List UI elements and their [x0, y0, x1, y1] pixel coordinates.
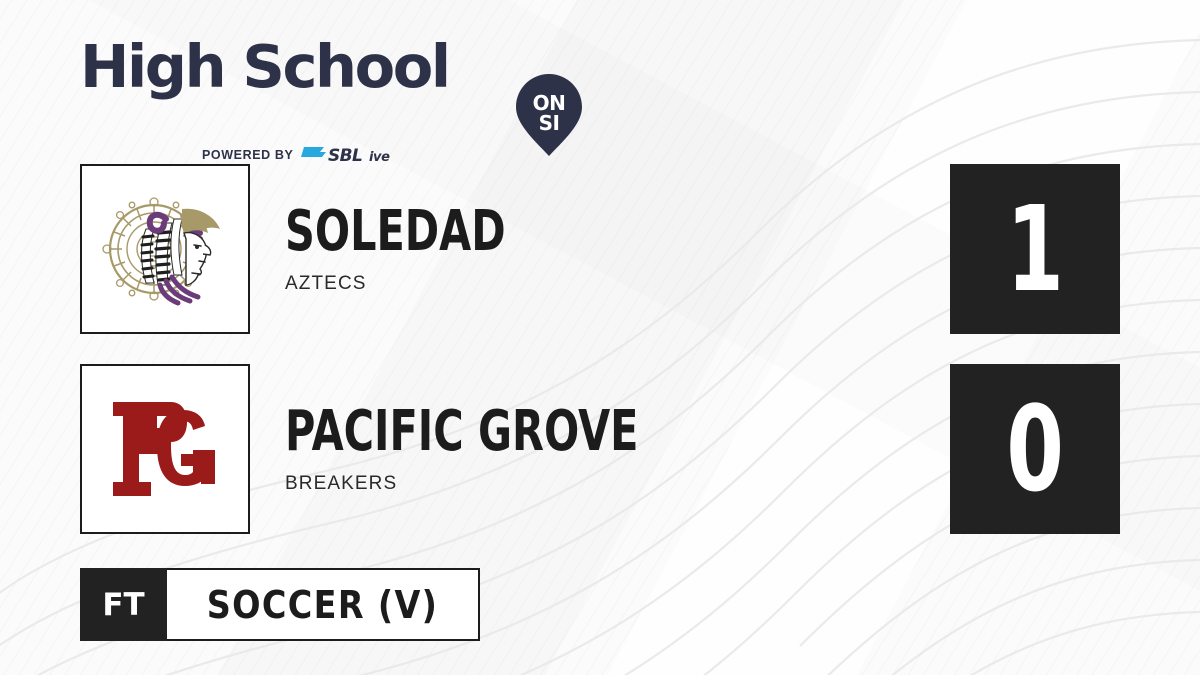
sblive-logo-icon: SBL ive — [300, 144, 398, 165]
brand-wordmark: High School — [80, 36, 510, 98]
game-status-bar: FT SOCCER (V) — [80, 568, 480, 641]
team-mascot: AZTECS — [285, 273, 583, 295]
score-value: 1 — [1006, 190, 1063, 308]
status-period-badge: FT — [80, 568, 167, 641]
pg-monogram-logo-icon — [109, 396, 221, 502]
team-mascot: BREAKERS — [285, 473, 763, 495]
svg-text:SBL: SBL — [328, 146, 362, 165]
powered-by-row: POWERED BY SBL ive — [202, 144, 398, 165]
powered-by-label: POWERED BY — [202, 148, 293, 162]
status-sport-block: SOCCER (V) — [167, 568, 480, 641]
on-si-pin-icon: ON SI — [516, 74, 582, 156]
score-value: 0 — [1006, 390, 1063, 508]
team-logo-soledad — [80, 164, 250, 334]
team-text-soledad: SOLEDAD AZTECS — [285, 164, 583, 334]
aztec-warrior-logo-icon — [102, 189, 228, 309]
team-text-pacific-grove: PACIFIC GROVE BREAKERS — [285, 364, 763, 534]
status-sport-label: SOCCER (V) — [207, 583, 438, 627]
scoreboard-graphic: High School ON SI POWERED BY SBL ive — [0, 0, 1200, 675]
team-name: PACIFIC GROVE — [285, 404, 638, 460]
team-name: SOLEDAD — [285, 204, 506, 260]
score-box-soledad: 1 — [950, 164, 1120, 334]
svg-text:SI: SI — [539, 111, 560, 135]
score-box-pacific-grove: 0 — [950, 364, 1120, 534]
brand-logo: High School ON SI POWERED BY SBL ive — [80, 36, 510, 136]
team-logo-pacific-grove — [80, 364, 250, 534]
svg-text:ive: ive — [369, 150, 390, 165]
